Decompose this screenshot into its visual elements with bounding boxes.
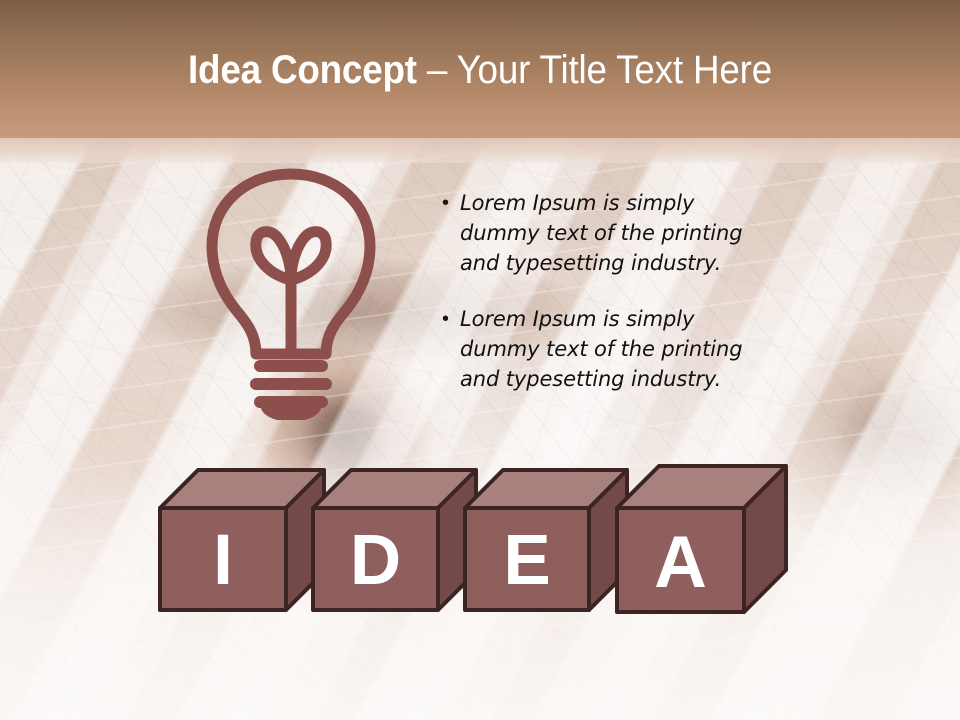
bullet-marker-icon: •	[432, 304, 460, 334]
slide-canvas: Idea Concept – Your Title Text Here	[0, 0, 960, 720]
idea-cube	[313, 470, 476, 610]
cube-front-face	[465, 508, 589, 610]
bullet-text: Lorem Ipsum is simply dummy text of the …	[460, 188, 762, 278]
bullet-marker-icon: •	[432, 188, 460, 218]
bullet-list: • Lorem Ipsum is simply dummy text of th…	[432, 188, 762, 420]
bullet-text: Lorem Ipsum is simply dummy text of the …	[460, 304, 762, 394]
header-bar: Idea Concept – Your Title Text Here	[0, 0, 960, 138]
idea-cubes-group: IDEA	[0, 455, 960, 635]
lightbulb-icon	[196, 162, 386, 420]
idea-cube	[160, 470, 324, 610]
page-title-regular: – Your Title Text Here	[417, 48, 772, 92]
cube-front-face	[160, 508, 286, 610]
list-item: • Lorem Ipsum is simply dummy text of th…	[432, 188, 762, 278]
page-title: Idea Concept – Your Title Text Here	[38, 47, 921, 93]
idea-cube	[465, 470, 627, 610]
list-item: • Lorem Ipsum is simply dummy text of th…	[432, 304, 762, 394]
cube-front-face	[313, 508, 438, 610]
idea-cube	[617, 466, 786, 612]
header-underband	[0, 138, 960, 163]
page-title-bold: Idea Concept	[188, 48, 417, 92]
cube-front-face	[617, 508, 744, 612]
